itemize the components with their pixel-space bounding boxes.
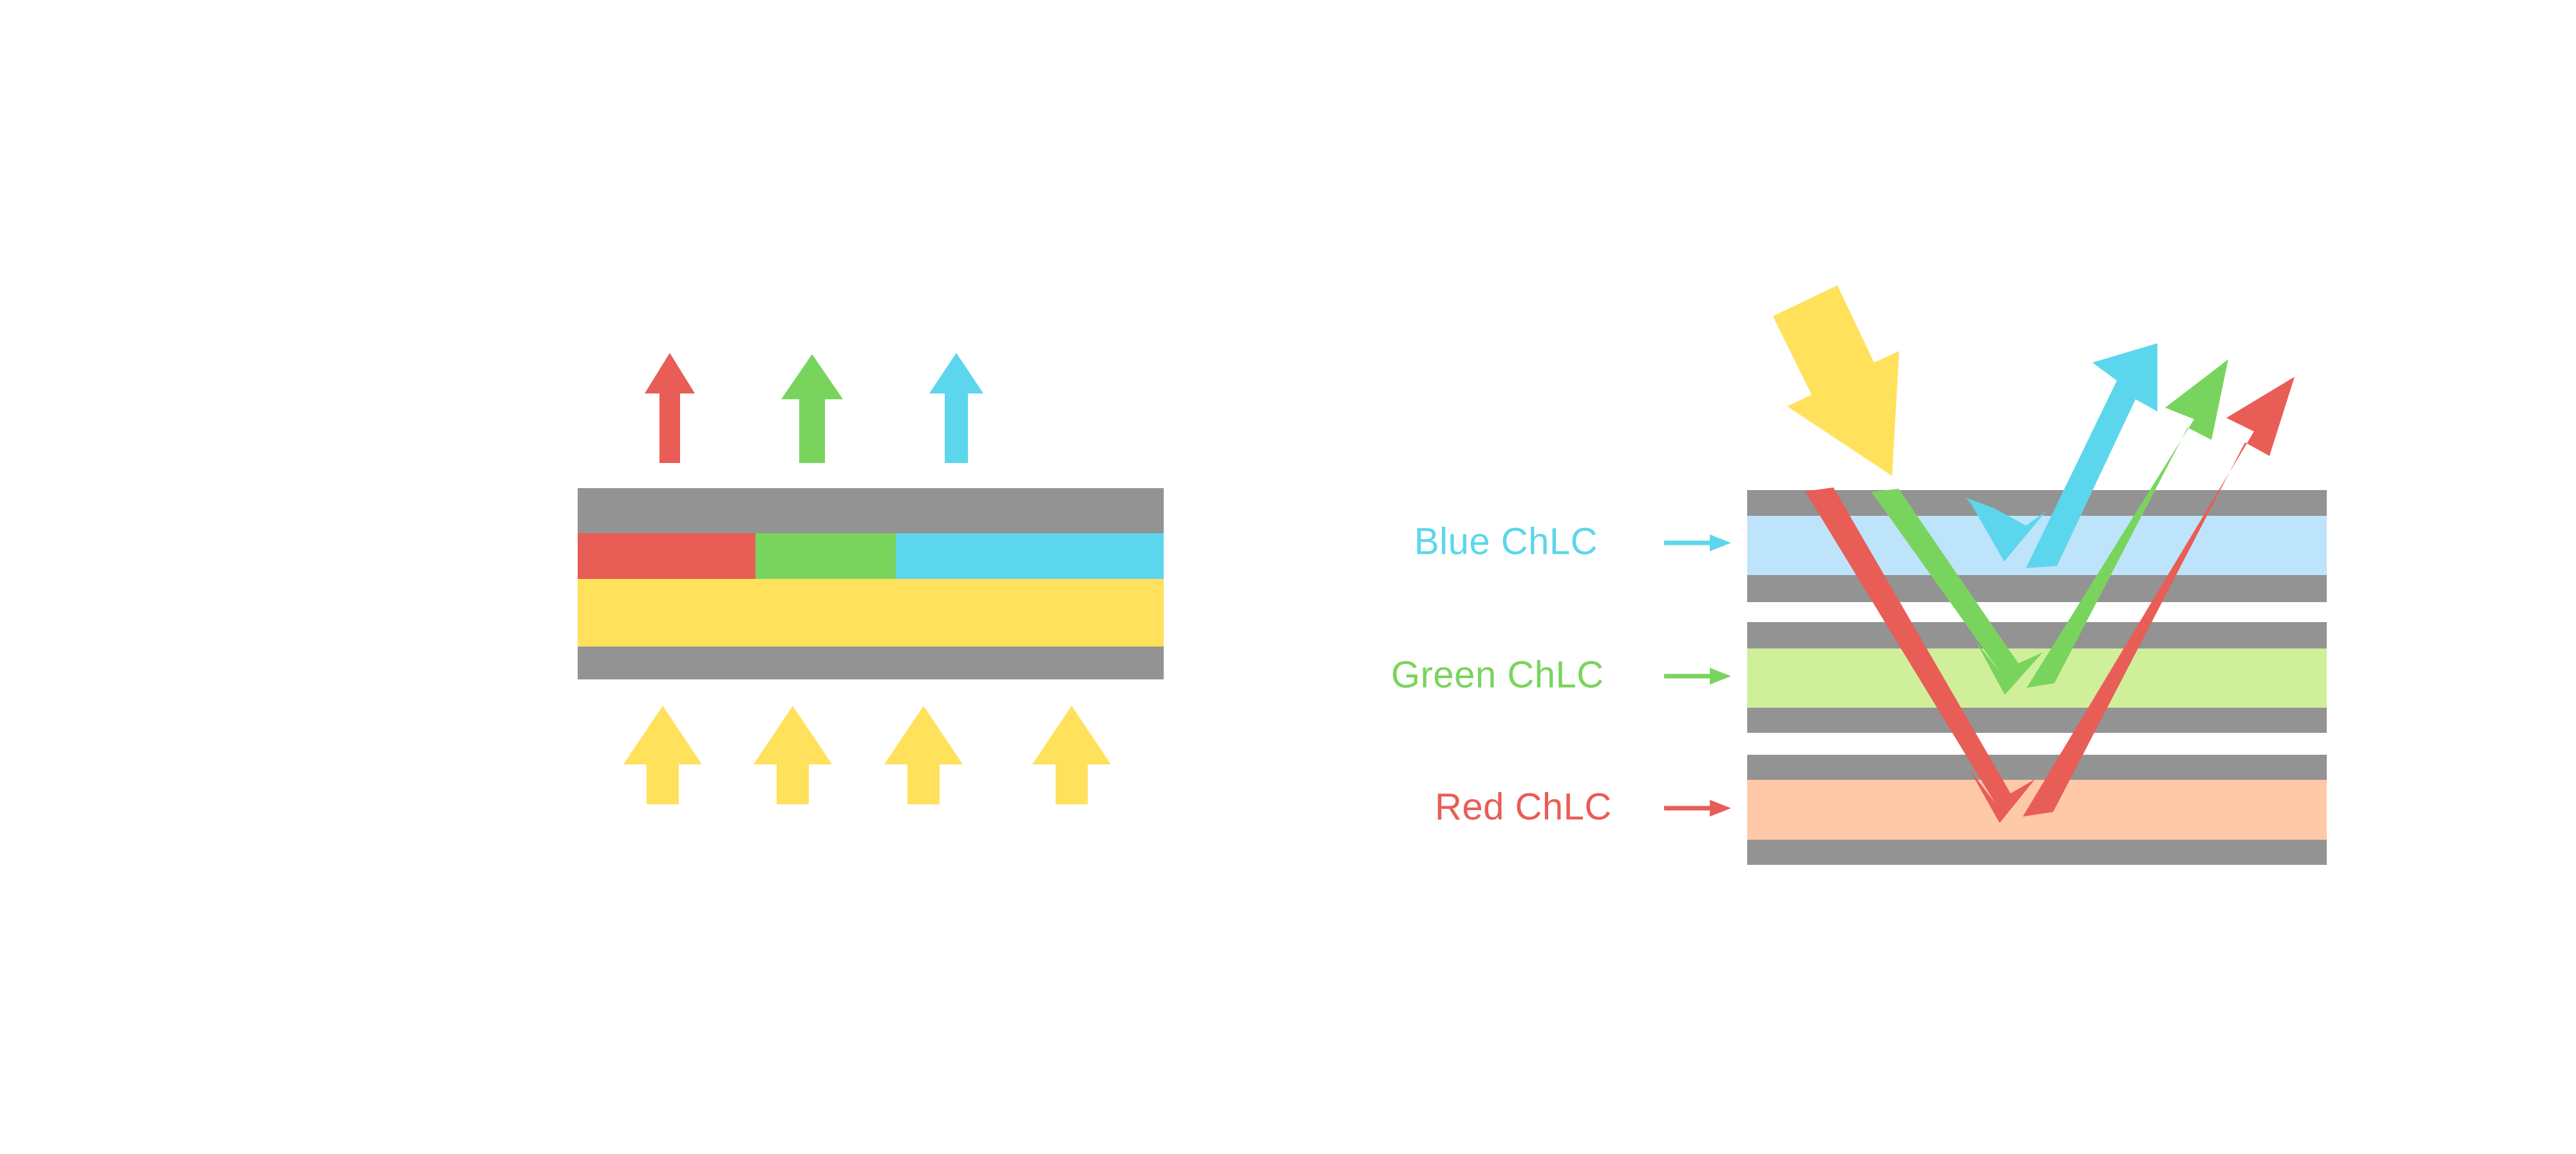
- label-blue-chlc: Blue ChLC: [1414, 520, 1731, 562]
- green-emission-arrow: [781, 354, 843, 463]
- label-green-chlc-arrow-right-icon: [1664, 668, 1731, 685]
- label-green-chlc-text: Green ChLC: [1391, 654, 1604, 695]
- right-panel-reflective-stack: Blue ChLC Green ChLC Red ChLC: [1288, 0, 2576, 1154]
- top-electrode: [578, 488, 1164, 533]
- left-panel-emissive-stack: [0, 0, 1288, 1154]
- label-red-chlc-text: Red ChLC: [1435, 786, 1612, 828]
- right-panel-svg: Blue ChLC Green ChLC Red ChLC: [1288, 0, 2576, 1154]
- bottom-electrode: [578, 647, 1164, 679]
- filter-red: [578, 533, 755, 579]
- cyan-emission-arrow: [929, 353, 983, 463]
- backlight-arrow-3: [884, 706, 963, 804]
- incident-white-light-arrow: [1773, 285, 1899, 476]
- label-green-chlc: Green ChLC: [1391, 654, 1731, 695]
- label-blue-chlc-text: Blue ChLC: [1414, 520, 1598, 562]
- backlight-arrow-2: [753, 706, 832, 804]
- left-panel-svg: [0, 0, 1288, 1154]
- red-emission-arrow: [645, 353, 695, 463]
- label-red-chlc: Red ChLC: [1435, 786, 1731, 828]
- label-red-chlc-arrow-right-icon: [1664, 800, 1731, 817]
- label-blue-chlc-arrow-right-icon: [1664, 534, 1731, 551]
- backlight-arrow-4: [1032, 706, 1111, 804]
- green-cell-top-electrode: [1747, 622, 2327, 648]
- red-cell-bottom-electrode: [1747, 840, 2327, 865]
- green-cell-bottom-electrode: [1747, 708, 2327, 733]
- backlight-layer: [578, 579, 1164, 647]
- figure-root: Blue ChLC Green ChLC Red ChLC: [0, 0, 2576, 1154]
- filter-green: [755, 533, 896, 579]
- emission-arrows-group: [645, 353, 983, 463]
- backlight-arrows-group: [623, 706, 1111, 804]
- red-cell-top-electrode: [1747, 755, 2327, 780]
- filter-blue: [896, 533, 1164, 579]
- blue-cell-bottom-electrode: [1747, 575, 2327, 602]
- backlight-arrow-1: [623, 706, 702, 804]
- left-stack-group: [578, 488, 1164, 679]
